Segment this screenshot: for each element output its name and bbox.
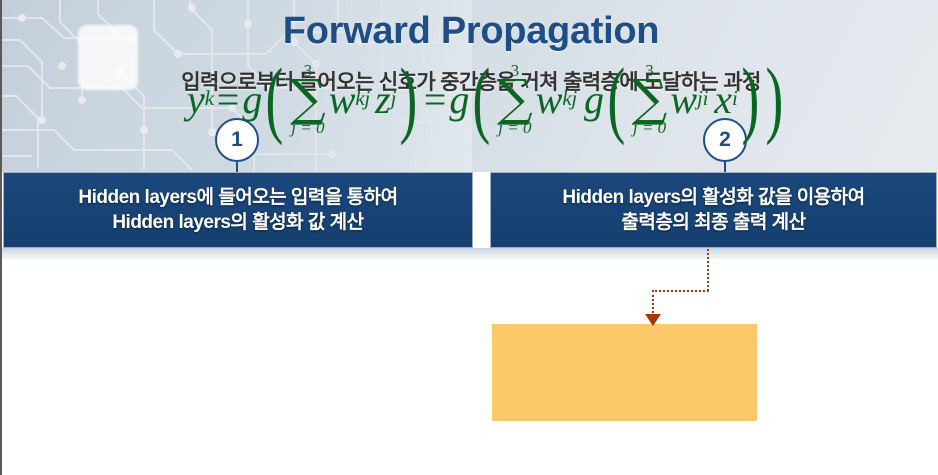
- formula-w2-sub: kj: [562, 87, 577, 111]
- forward-propagation-formula: yk = g ( 3 ∑ j = 0 wkj zj ) = g ( 3 ∑ j …: [187, 62, 938, 136]
- formula-close-paren-1: ): [400, 68, 418, 130]
- formula-g-3: g: [584, 76, 604, 123]
- formula-x-3: x: [714, 76, 732, 123]
- formula-w-3: w: [670, 76, 697, 123]
- slide-body: [2, 259, 938, 475]
- formula-w-1: w: [329, 76, 356, 123]
- formula-sum2-lower: j = 0: [498, 119, 531, 136]
- formula-close-paren-3: ): [741, 68, 759, 130]
- formula-w3-sub: ji: [697, 87, 708, 111]
- formula-g-1: g: [242, 76, 262, 123]
- formula-lhs-sub: k: [205, 87, 214, 111]
- formula-open-paren-1: (: [266, 68, 284, 130]
- formula-open-paren-2: (: [473, 68, 491, 130]
- step-banner-2-line1: Hidden layers의 활성화 값을 이용하여: [562, 185, 864, 210]
- formula-sum3-lower: j = 0: [633, 119, 666, 136]
- formula-sum1-lower: j = 0: [291, 119, 324, 136]
- banner-underline-strip: [2, 248, 938, 259]
- formula-highlight: [492, 324, 757, 421]
- step-banner-2-text: Hidden layers의 활성화 값을 이용하여 출력층의 최종 출력 계산: [562, 185, 864, 235]
- step-banner-2-line2: 출력층의 최종 출력 계산: [562, 210, 864, 235]
- page-title: Forward Propagation: [2, 10, 938, 53]
- formula-lhs-var: y: [187, 76, 205, 123]
- formula-z1-sub: j: [391, 87, 397, 111]
- down-arrow-icon: [645, 314, 661, 326]
- formula-equals-2: =: [424, 76, 447, 123]
- formula-summation-3: 3 ∑ j = 0: [632, 62, 668, 136]
- formula-sum1-sigma: ∑: [290, 77, 326, 120]
- step-banner-1-text: Hidden layers에 들어오는 입력을 통하여 Hidden layer…: [78, 185, 397, 235]
- formula-w-2: w: [536, 76, 563, 123]
- formula-w1-sub: kj: [355, 87, 370, 111]
- step-banner-1[interactable]: Hidden layers에 들어오는 입력을 통하여 Hidden layer…: [3, 172, 473, 248]
- formula-z-1: z: [375, 76, 391, 123]
- step-banner-1-line2: Hidden layers의 활성화 값 계산: [78, 210, 397, 235]
- connector-segment-horizontal: [652, 290, 709, 292]
- formula-summation-1: 3 ∑ j = 0: [290, 62, 326, 136]
- formula-x3-sub: i: [732, 87, 738, 111]
- step-banner-1-line1: Hidden layers에 들어오는 입력을 통하여: [78, 185, 397, 210]
- step-banner-2[interactable]: Hidden layers의 활성화 값을 이용하여 출력층의 최종 출력 계산: [490, 172, 937, 248]
- connector-segment-vertical-1: [707, 249, 709, 291]
- formula-sum3-sigma: ∑: [632, 77, 668, 120]
- formula-open-paren-3: (: [607, 68, 625, 130]
- formula-equals-1: =: [217, 76, 240, 123]
- formula-sum2-sigma: ∑: [497, 77, 533, 120]
- formula-g-2: g: [449, 76, 469, 123]
- formula-close-paren-2: ): [766, 68, 784, 130]
- formula-summation-2: 3 ∑ j = 0: [497, 62, 533, 136]
- slide-canvas: Forward Propagation 입력으로부터 들어오는 신호가 중간층을…: [0, 0, 938, 475]
